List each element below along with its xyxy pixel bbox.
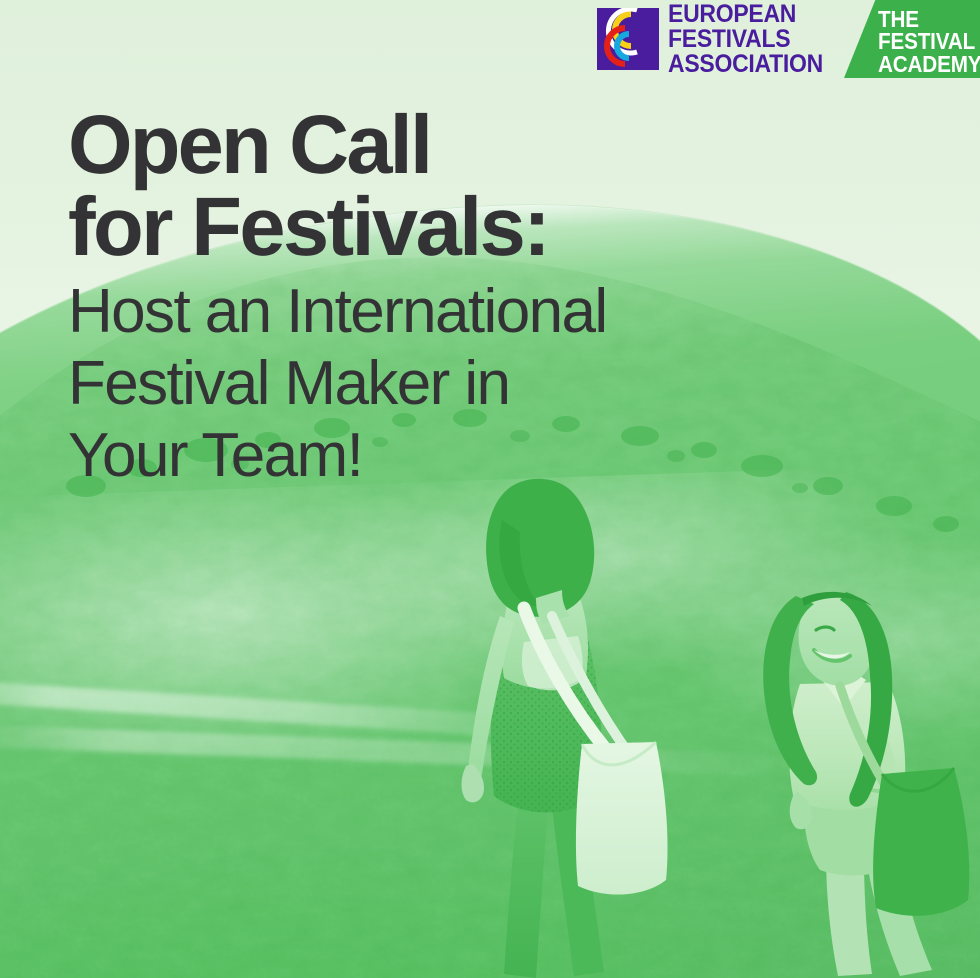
efa-line-2: FESTIVALS [668, 27, 823, 52]
subhead-line-3: Your Team! [68, 420, 888, 492]
woman-walking-with-tote-bag [432, 466, 682, 978]
efa-line-3: ASSOCIATION [668, 52, 823, 77]
tfa-line-1: THE [878, 8, 966, 30]
headline-line-2: for Festivals: [68, 186, 888, 268]
poster-canvas: EUROPEAN FESTIVALS ASSOCIATION THE FESTI… [0, 0, 980, 978]
woman-smiling-with-tote-bag [742, 588, 980, 978]
efa-wordmark: EUROPEAN FESTIVALS ASSOCIATION [668, 1, 836, 76]
logo-bar: EUROPEAN FESTIVALS ASSOCIATION THE FESTI… [597, 0, 980, 78]
tfa-wordmark: THE FESTIVAL ACADEMY [878, 8, 976, 75]
page-title: Open Call for Festivals: [68, 104, 888, 268]
european-festivals-association-logo-mark [597, 8, 659, 70]
the-festival-academy-logo[interactable]: THE FESTIVAL ACADEMY [844, 0, 980, 78]
european-festivals-association-logo[interactable]: EUROPEAN FESTIVALS ASSOCIATION [597, 0, 846, 78]
subhead-line-1: Host an International [68, 276, 888, 348]
headline-line-1: Open Call [68, 104, 888, 186]
efa-line-1: EUROPEAN [668, 2, 823, 27]
subhead-line-2: Festival Maker in [68, 348, 888, 420]
tfa-line-3: ACADEMY [878, 53, 966, 75]
page-subtitle: Host an International Festival Maker in … [68, 276, 888, 492]
tfa-line-2: FESTIVAL [878, 30, 966, 52]
headline-block: Open Call for Festivals: Host an Interna… [68, 104, 888, 492]
